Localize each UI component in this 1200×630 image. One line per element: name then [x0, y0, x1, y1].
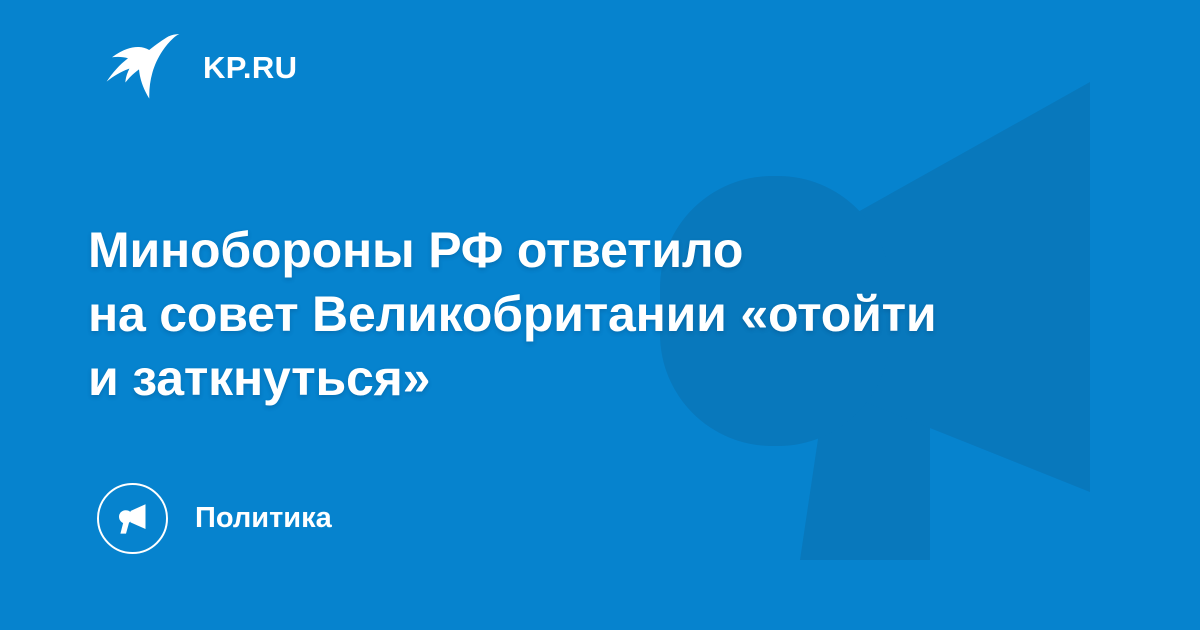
headline-line-1: Минобороны РФ ответило	[88, 218, 1118, 282]
rubric-icon-circle	[97, 483, 168, 554]
brand-name: KP.RU	[203, 52, 297, 83]
rubric-badge[interactable]: Политика	[97, 483, 332, 554]
page-title: Минобороны РФ ответило на совет Великобр…	[88, 218, 1118, 410]
swallow-bird-icon	[105, 34, 181, 100]
headline-line-2: на совет Великобритании «отойти	[88, 282, 1118, 346]
rubric-label: Политика	[195, 504, 332, 533]
share-card: KP.RU Минобороны РФ ответило на совет Ве…	[0, 0, 1200, 630]
headline-line-3: и заткнуться»	[88, 346, 1118, 410]
megaphone-icon	[114, 500, 152, 538]
site-logo[interactable]: KP.RU	[105, 34, 297, 100]
